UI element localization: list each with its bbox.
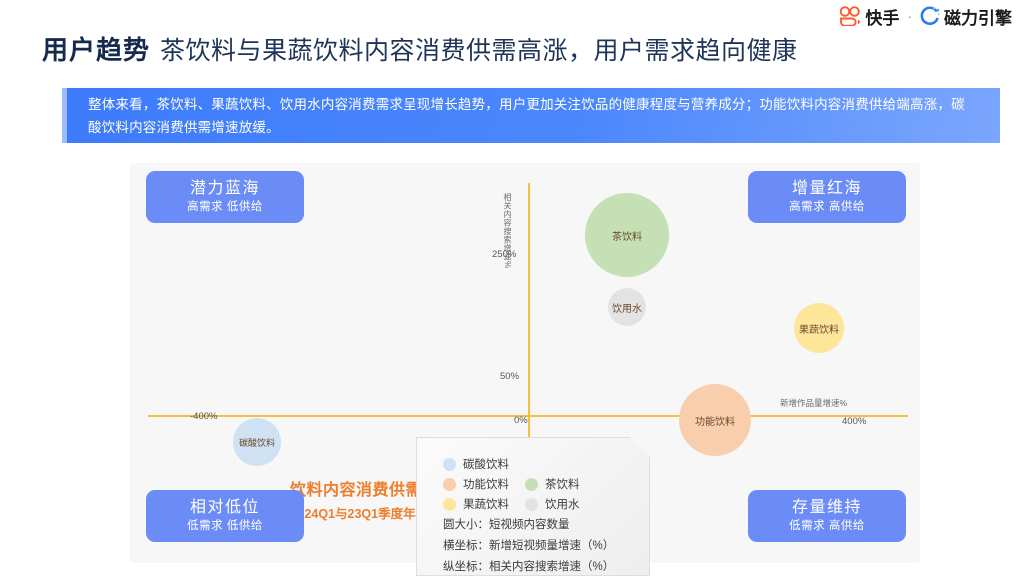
legend-item-functional[interactable]: 功能饮料 (443, 476, 509, 492)
bubble-fruit-veg-drink[interactable]: 果蔬饮料 (794, 303, 844, 353)
quadrant-potential-blue-ocean[interactable]: 潜力蓝海 高需求 低供给 (146, 171, 304, 223)
quadrant-relative-low[interactable]: 相对低位 低需求 低供给 (146, 490, 304, 542)
kuaishou-logo-icon (839, 6, 861, 26)
legend-swatch-icon (525, 478, 538, 491)
quadrant-title: 相对低位 (190, 498, 260, 518)
legend-swatch-icon (525, 498, 538, 511)
chart-legend: 碳酸饮料 功能饮料 茶饮料 果蔬饮料 饮用水 圆大小：短视频内容数量 横 (416, 437, 650, 576)
kuaishou-brand-text: 快手 (865, 4, 899, 29)
quadrant-subtitle: 低需求 低供给 (187, 518, 263, 535)
bubble-functional-drink[interactable]: 功能饮料 (679, 384, 751, 456)
legend-item-water[interactable]: 饮用水 (525, 496, 580, 512)
legend-meta-size: 圆大小：短视频内容数量 (443, 516, 649, 535)
quadrant-title: 潜力蓝海 (190, 179, 260, 199)
summary-banner-text: 整体来看，茶饮料、果蔬饮料、饮用水内容消费需求呈现增长趋势，用户更加关注饮品的健… (62, 93, 1000, 139)
bubble-carbonated-drink[interactable]: 碳酸饮料 (233, 418, 281, 466)
legend-label: 功能饮料 (463, 476, 509, 492)
ciliqingqing-logo-icon (920, 6, 940, 26)
summary-banner: 整体来看，茶饮料、果蔬饮料、饮用水内容消费需求呈现增长趋势，用户更加关注饮品的健… (62, 88, 1000, 143)
legend-meta-yaxis: 纵坐标：相关内容搜索增速（%） (443, 558, 649, 576)
page-title-main: 茶饮料与果蔬饮料内容消费供需高涨，用户需求趋向健康 (160, 31, 798, 67)
quadrant-title: 增量红海 (792, 179, 862, 199)
bubble-label: 茶饮料 (612, 228, 642, 243)
legend-swatch-icon (443, 498, 456, 511)
brand-separator: · (907, 8, 912, 24)
legend-swatch-icon (443, 458, 456, 471)
legend-row: 功能饮料 茶饮料 (443, 474, 649, 494)
engine-brand-text: 磁力引擎 (944, 4, 1012, 29)
legend-row: 果蔬饮料 饮用水 (443, 494, 649, 514)
legend-item-fruit-veg[interactable]: 果蔬饮料 (443, 496, 509, 512)
legend-meta-xaxis: 横坐标：新增短视频量增速（%） (443, 537, 649, 556)
bubble-label: 功能饮料 (695, 413, 735, 428)
x-tick-right: 400% (842, 416, 866, 427)
quadrant-stock-maintain[interactable]: 存量维持 低需求 高供给 (748, 490, 906, 542)
quadrant-growth-red-ocean[interactable]: 增量红海 高需求 高供给 (748, 171, 906, 223)
bubble-label: 果蔬饮料 (799, 321, 839, 336)
bubble-tea-drink[interactable]: 茶饮料 (585, 193, 669, 277)
legend-label: 果蔬饮料 (463, 496, 509, 512)
x-axis-label: 新增作品量增速% (780, 397, 847, 409)
x-tick-left: -400% (190, 411, 217, 422)
page-title: 用户趋势 茶饮料与果蔬饮料内容消费供需高涨，用户需求趋向健康 (42, 30, 798, 67)
quadrant-subtitle: 高需求 高供给 (789, 199, 865, 216)
legend-label: 饮用水 (545, 496, 580, 512)
quadrant-title: 存量维持 (792, 498, 862, 518)
engine-brand: 磁力引擎 (920, 4, 1012, 29)
bubble-label: 饮用水 (612, 300, 642, 315)
brand-bar: 快手 · 磁力引擎 (839, 5, 1012, 27)
legend-swatch-icon (443, 478, 456, 491)
bubble-drinking-water[interactable]: 饮用水 (608, 288, 646, 326)
bubble-label: 碳酸饮料 (239, 436, 275, 449)
y-axis-label: 相关内容搜索增速% (502, 193, 513, 269)
x-tick-zero: 0% (514, 415, 528, 426)
legend-item-tea[interactable]: 茶饮料 (525, 476, 580, 492)
slide-root: 快手 · 磁力引擎 用户趋势 茶饮料与果蔬饮料内容消费供需高涨，用户需求趋向健康… (0, 0, 1024, 576)
y-tick-low: 50% (500, 371, 519, 382)
legend-label: 碳酸饮料 (463, 456, 509, 472)
legend-label: 茶饮料 (545, 476, 580, 492)
quadrant-subtitle: 低需求 高供给 (789, 518, 865, 535)
kuaishou-brand: 快手 (839, 4, 899, 29)
page-title-tag: 用户趋势 (42, 30, 150, 67)
legend-row: 碳酸饮料 (443, 454, 649, 474)
legend-item-carbonated[interactable]: 碳酸饮料 (443, 456, 509, 472)
quadrant-subtitle: 高需求 低供给 (187, 199, 263, 216)
